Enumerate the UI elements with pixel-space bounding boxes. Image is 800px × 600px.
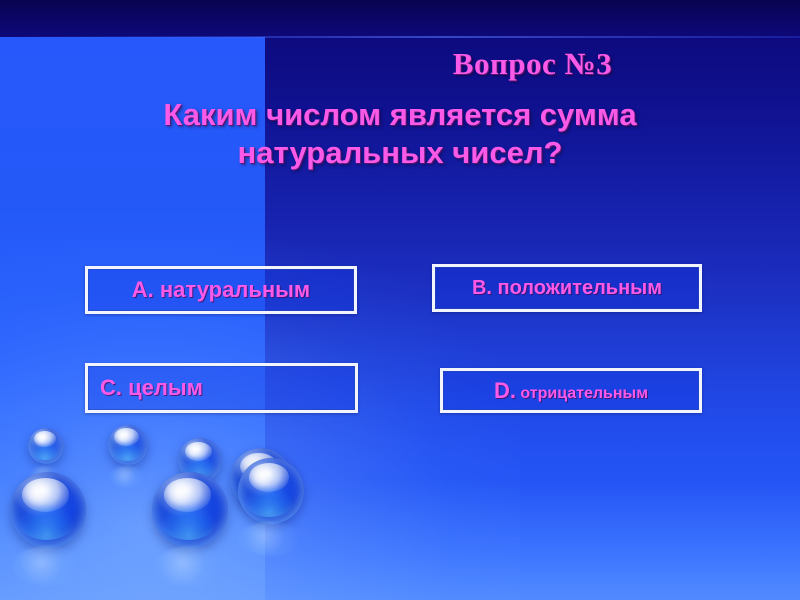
answer-option-d-text: отрицательным <box>516 385 648 402</box>
answer-option-c[interactable]: C. целым <box>85 363 358 413</box>
answer-option-d-label: D. отрицательным <box>494 378 648 404</box>
bubble-large-left <box>10 472 86 548</box>
answer-option-d[interactable]: D. отрицательным <box>440 368 702 413</box>
answer-option-a[interactable]: A. натуральным <box>85 266 357 314</box>
bubble-small-2 <box>108 425 148 465</box>
background-top-band-highlight <box>0 36 800 38</box>
answer-option-a-label: A. натуральным <box>132 277 310 303</box>
question-text-line-2: натуральных чисел? <box>18 134 782 172</box>
answer-option-b[interactable]: B. положительным <box>432 264 702 312</box>
answer-option-d-letter: D. <box>494 378 516 403</box>
bubble-medium-front <box>238 458 304 524</box>
presentation-slide: Вопрос №3 Каким числом является сумма на… <box>0 0 800 600</box>
question-number: Вопрос №3 <box>265 46 800 82</box>
answer-option-b-label: B. положительным <box>472 277 662 300</box>
question-text-line-1: Каким числом является сумма <box>18 96 782 134</box>
question-text: Каким числом является сумма натуральных … <box>18 96 782 172</box>
background-top-band <box>0 0 800 37</box>
bubble-large-center <box>152 472 228 548</box>
bubble-small-1 <box>28 428 64 464</box>
answer-option-c-label: C. целым <box>100 375 203 401</box>
